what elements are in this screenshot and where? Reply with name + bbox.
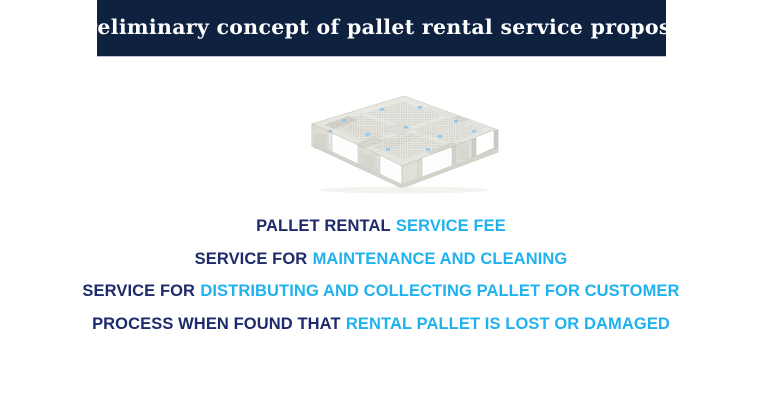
title-banner: Preliminary concept of pallet rental ser… bbox=[97, 0, 666, 57]
bullet-1-accent: SERVICE FEE bbox=[396, 217, 506, 235]
bullet-2-accent: MAINTENANCE AND CLEANING bbox=[313, 250, 568, 268]
bullet-line-1: PALLET RENTALSERVICE FEE bbox=[0, 218, 762, 235]
bullet-list: PALLET RENTALSERVICE FEE SERVICE FORMAIN… bbox=[0, 218, 762, 332]
pallet-illustration-svg bbox=[276, 78, 508, 202]
bullet-4-lead: PROCESS WHEN FOUND THAT bbox=[92, 315, 341, 333]
bullet-4-accent: RENTAL PALLET IS LOST OR DAMAGED bbox=[346, 315, 670, 333]
bullet-3-lead: SERVICE FOR bbox=[82, 282, 195, 300]
bullet-2-lead: SERVICE FOR bbox=[195, 250, 308, 268]
bullet-line-3: SERVICE FORDISTRIBUTING AND COLLECTING P… bbox=[0, 283, 762, 300]
bullet-3-accent: DISTRIBUTING AND COLLECTING PALLET FOR C… bbox=[200, 282, 679, 300]
pallet-image bbox=[276, 78, 508, 202]
bullet-line-4: PROCESS WHEN FOUND THATRENTAL PALLET IS … bbox=[0, 316, 762, 333]
page-title: Preliminary concept of pallet rental ser… bbox=[71, 17, 693, 38]
bullet-1-lead: PALLET RENTAL bbox=[256, 217, 391, 235]
bullet-line-2: SERVICE FORMAINTENANCE AND CLEANING bbox=[0, 251, 762, 268]
